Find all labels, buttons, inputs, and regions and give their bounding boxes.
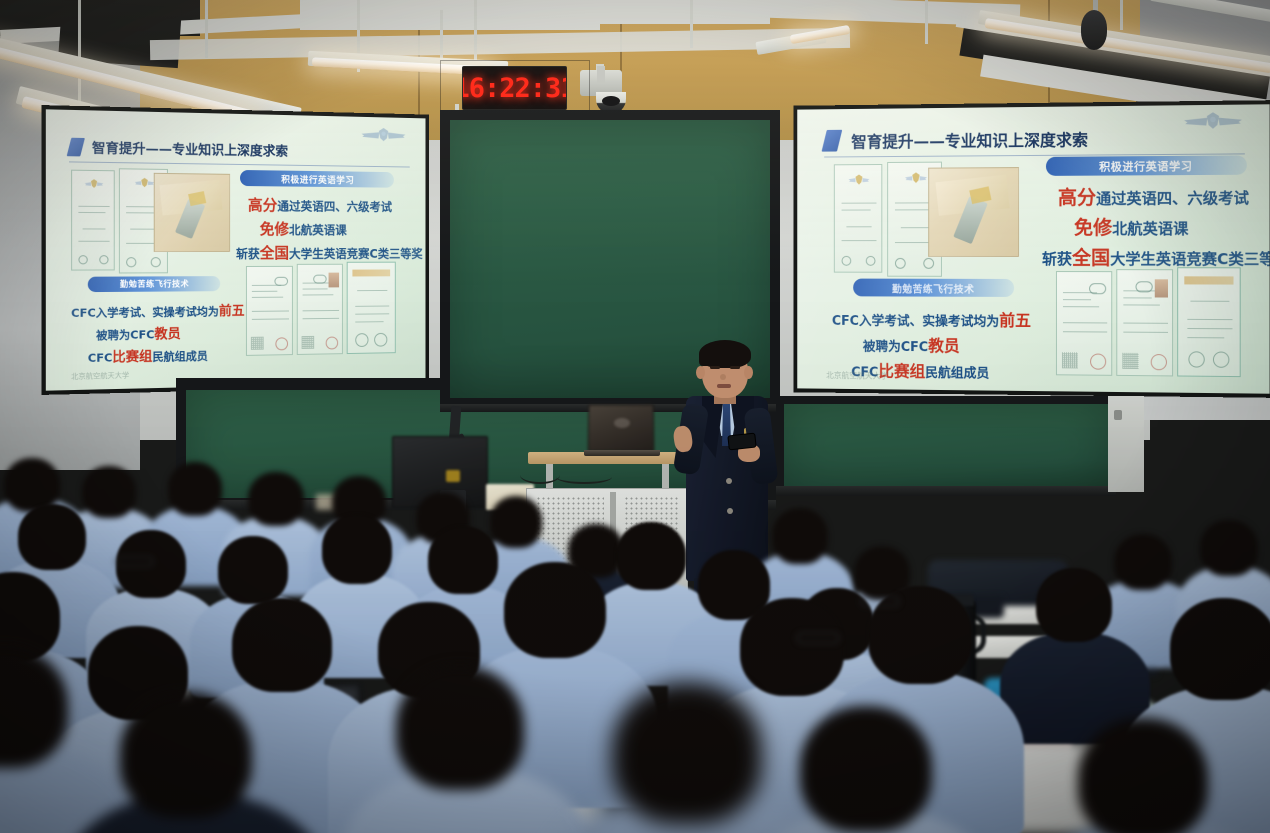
title-accent-chip bbox=[67, 137, 85, 156]
slide-title: 智育提升——专业知识上深度求索 bbox=[851, 126, 1088, 152]
right-line-2-highlight: 免修 bbox=[1074, 217, 1112, 239]
right-line-2-text: 北航英语课 bbox=[289, 223, 347, 237]
left-line-1-highlight: 前五 bbox=[999, 311, 1031, 330]
right-line-2-text: 北航英语课 bbox=[1112, 220, 1188, 238]
left-banner: 勤勉苦练飞行技术 bbox=[88, 276, 220, 292]
right-line-2-highlight: 免修 bbox=[260, 220, 289, 238]
winged-aviation-badge-icon bbox=[1179, 109, 1247, 136]
left-line-1-highlight: 前五 bbox=[219, 304, 245, 319]
right-line-3-highlight: 全国 bbox=[1072, 247, 1110, 269]
right-line-3-text: 大学生英语竞赛C类三等奖 bbox=[289, 247, 423, 261]
right-line-3-text: 大学生英语竞赛C类三等奖 bbox=[1110, 250, 1269, 268]
right-line-3-highlight: 全国 bbox=[260, 244, 289, 262]
left-line-2-highlight: 教员 bbox=[154, 327, 180, 343]
left-line-2-text: 被聘为CFC bbox=[96, 328, 154, 342]
title-accent-chip bbox=[822, 130, 843, 152]
left-line-2-highlight: 教员 bbox=[928, 336, 959, 355]
documents-photo bbox=[154, 173, 230, 252]
right-line-1-highlight: 高分 bbox=[1058, 187, 1096, 209]
wall-switch bbox=[1114, 410, 1122, 420]
right-line-1-text: 通过英语四、六级考试 bbox=[1096, 189, 1249, 208]
right-banner-label: 积极进行英语学习 bbox=[281, 172, 354, 186]
right-line-1-highlight: 高分 bbox=[248, 196, 277, 214]
flight-certificate bbox=[834, 164, 882, 273]
slide-footer: 北京航空航天大学 bbox=[71, 370, 129, 382]
left-banner-label: 勤勉苦练飞行技术 bbox=[120, 278, 189, 290]
right-line-3-prefix: 斩获 bbox=[1042, 250, 1072, 268]
left-line-3-a: CFC bbox=[88, 351, 113, 365]
cet-certificate bbox=[297, 264, 343, 355]
projection-screen-right: 智育提升——专业知识上深度求索 bbox=[793, 100, 1270, 398]
left-line-3-b: 民航组成员 bbox=[152, 350, 208, 364]
left-banner-label: 勤勉苦练飞行技术 bbox=[892, 280, 974, 295]
winged-aviation-badge-icon bbox=[358, 125, 409, 147]
ceiling-projector bbox=[1081, 10, 1107, 50]
cet-certificate bbox=[1056, 271, 1112, 376]
competition-certificate bbox=[1177, 267, 1241, 377]
eyeglasses bbox=[114, 556, 154, 567]
documents-photo bbox=[928, 167, 1019, 257]
left-line-1-text: CFC入学考试、实操考试均为 bbox=[71, 305, 219, 320]
left-line-1-text: CFC入学考试、实操考试均为 bbox=[832, 314, 999, 330]
competition-certificate bbox=[347, 262, 396, 354]
right-line-1-text: 通过英语四、六级考试 bbox=[277, 199, 392, 214]
left-line-3-b: 民航组成员 bbox=[925, 366, 989, 382]
smartphone bbox=[727, 433, 756, 451]
left-line-2-text: 被聘为CFC bbox=[863, 340, 928, 355]
projection-screen-left: 智育提升——专业知识上深度求索 bbox=[42, 105, 430, 395]
lecture-hall-photo: 16:22:31 智育提升——专业知识上深度求索 bbox=[0, 0, 1270, 833]
slide-right: 智育提升——专业知识上深度求索 bbox=[797, 104, 1269, 393]
right-banner: 积极进行英语学习 bbox=[240, 170, 394, 188]
flight-certificate bbox=[71, 170, 115, 271]
green-chalkboard bbox=[784, 404, 1110, 486]
right-line-3-prefix: 斩获 bbox=[236, 247, 260, 261]
slide-left: 智育提升——专业知识上深度求索 bbox=[46, 109, 426, 390]
cet-certificate bbox=[246, 266, 293, 356]
slide-title: 智育提升——专业知识上深度求索 bbox=[92, 137, 288, 160]
slide-footer: 北京航空航天大学 bbox=[826, 370, 888, 381]
cet-certificate bbox=[1116, 269, 1173, 376]
left-banner: 勤勉苦练飞行技术 bbox=[853, 279, 1014, 297]
left-line-3-highlight: 比赛组 bbox=[112, 350, 152, 366]
eyeglasses bbox=[860, 596, 900, 607]
eyeglasses bbox=[796, 632, 840, 644]
right-banner-label: 积极进行英语学习 bbox=[1099, 157, 1192, 174]
laptop-on-podium bbox=[588, 404, 655, 452]
right-banner: 积极进行英语学习 bbox=[1046, 155, 1247, 175]
